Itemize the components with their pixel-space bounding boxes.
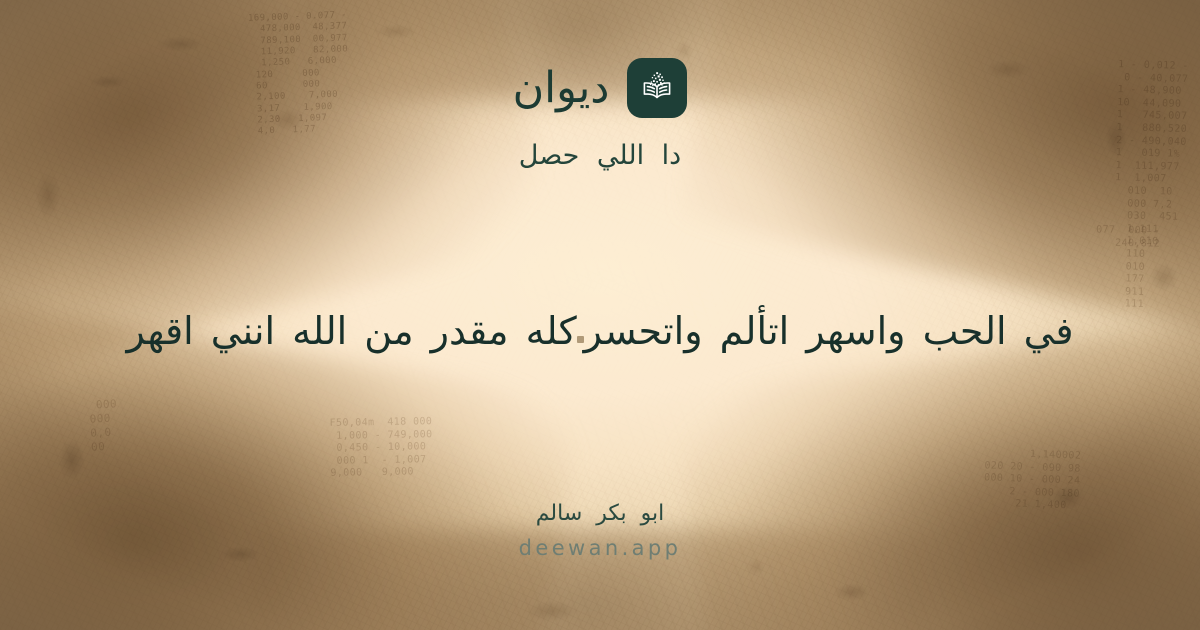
- open-book-sparkles-icon: [627, 58, 687, 118]
- poem-title: دا اللي حصل: [519, 140, 681, 172]
- brand-header: ديوان: [513, 58, 688, 118]
- card-footer: ابو بكر سالم deewan.app: [0, 500, 1200, 559]
- verse-separator-dot: [577, 336, 584, 343]
- verse-first-hemistich: كله مقدر من الله انني اقهر: [101, 306, 577, 357]
- card-content: ديوان دا اللي حصل في الحب واسهر اتألم وا…: [0, 0, 1200, 630]
- poetry-share-card: - 0.077 - 169,000 48,377 478,000 00,977 …: [0, 0, 1200, 630]
- verse-second-hemistich: في الحب واسهر اتألم واتحسر: [584, 306, 1100, 357]
- poem-verse: في الحب واسهر اتألم واتحسر كله مقدر من ا…: [0, 306, 1200, 357]
- brand-name: ديوان: [513, 67, 610, 110]
- site-url: deewan.app: [519, 538, 682, 559]
- poem-author: ابو بكر سالم: [536, 500, 664, 528]
